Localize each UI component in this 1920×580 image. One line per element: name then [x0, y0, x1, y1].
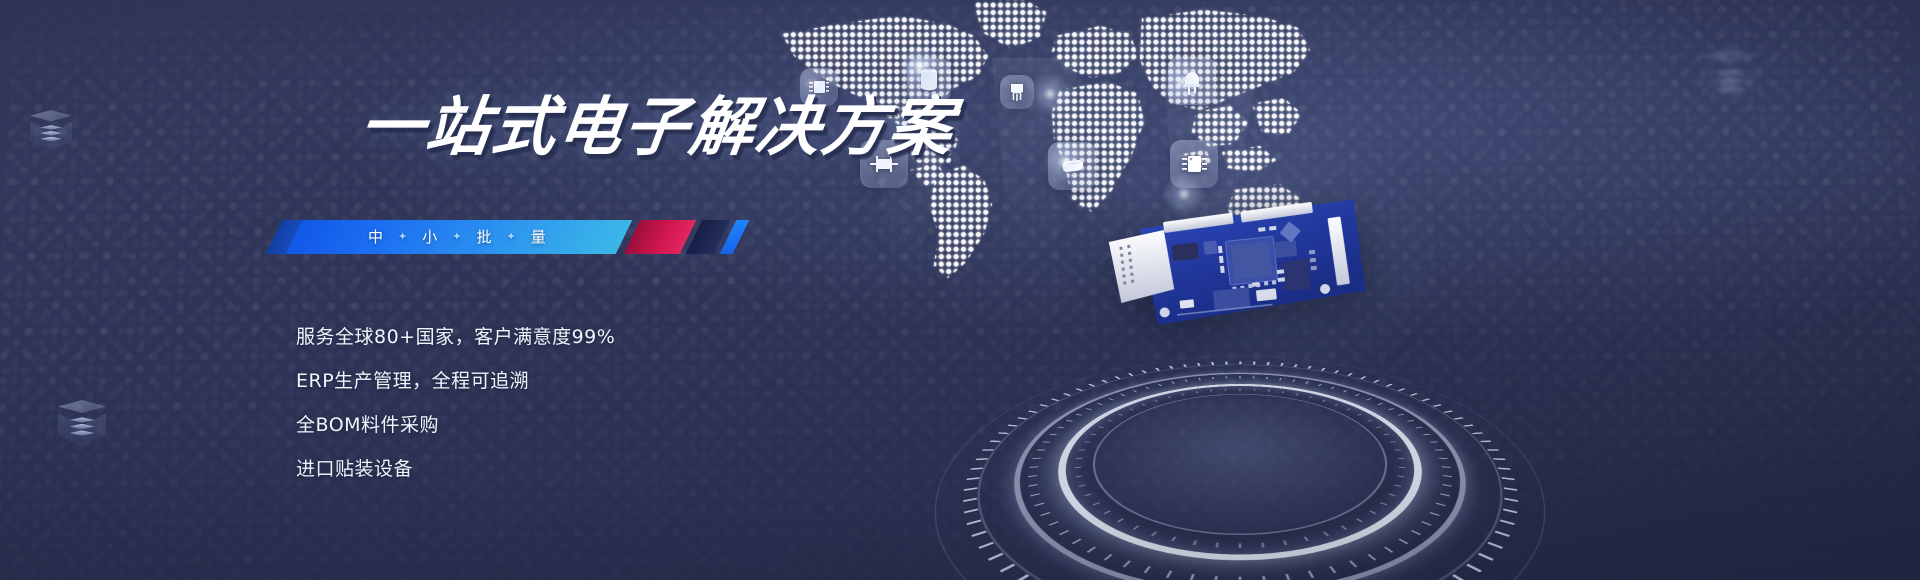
soic-chip-icon [1170, 140, 1218, 188]
led-icon [1168, 57, 1216, 105]
list-item: 全BOM料件采购 [296, 410, 615, 440]
ribbon-item-3: 量 [517, 220, 561, 254]
hero-banner: 一站式电子解决方案 中 ✦ 小 ✦ 批 ✦ 量 服务全球80+国家，客户满意度9… [0, 0, 1920, 580]
list-item: 服务全球80+国家，客户满意度99% [296, 322, 615, 352]
ribbon-separator-2: ✦ [506, 220, 516, 254]
ribbon-badge: 中 ✦ 小 ✦ 批 ✦ 量 [294, 220, 1074, 254]
ribbon-item-0: 中 [354, 220, 398, 254]
list-item: 进口贴装设备 [296, 454, 615, 484]
ribbon-red-shape [624, 220, 697, 254]
ribbon-label: 中 ✦ 小 ✦ 批 ✦ 量 [354, 220, 561, 254]
list-item: ERP生产管理，全程可追溯 [296, 366, 615, 396]
page-title: 一站式电子解决方案 [356, 96, 1124, 160]
ribbon-item-1: 小 [408, 220, 452, 254]
hero-copy: 一站式电子解决方案 中 ✦ 小 ✦ 批 ✦ 量 服务全球80+国家，客户满意度9… [360, 96, 1120, 160]
ribbon-item-2: 批 [462, 220, 506, 254]
ribbon-separator-1: ✦ [452, 220, 462, 254]
feature-list: 服务全球80+国家，客户满意度99% ERP生产管理，全程可追溯 全BOM料件采… [296, 322, 615, 498]
ribbon-separator-0: ✦ [398, 220, 408, 254]
